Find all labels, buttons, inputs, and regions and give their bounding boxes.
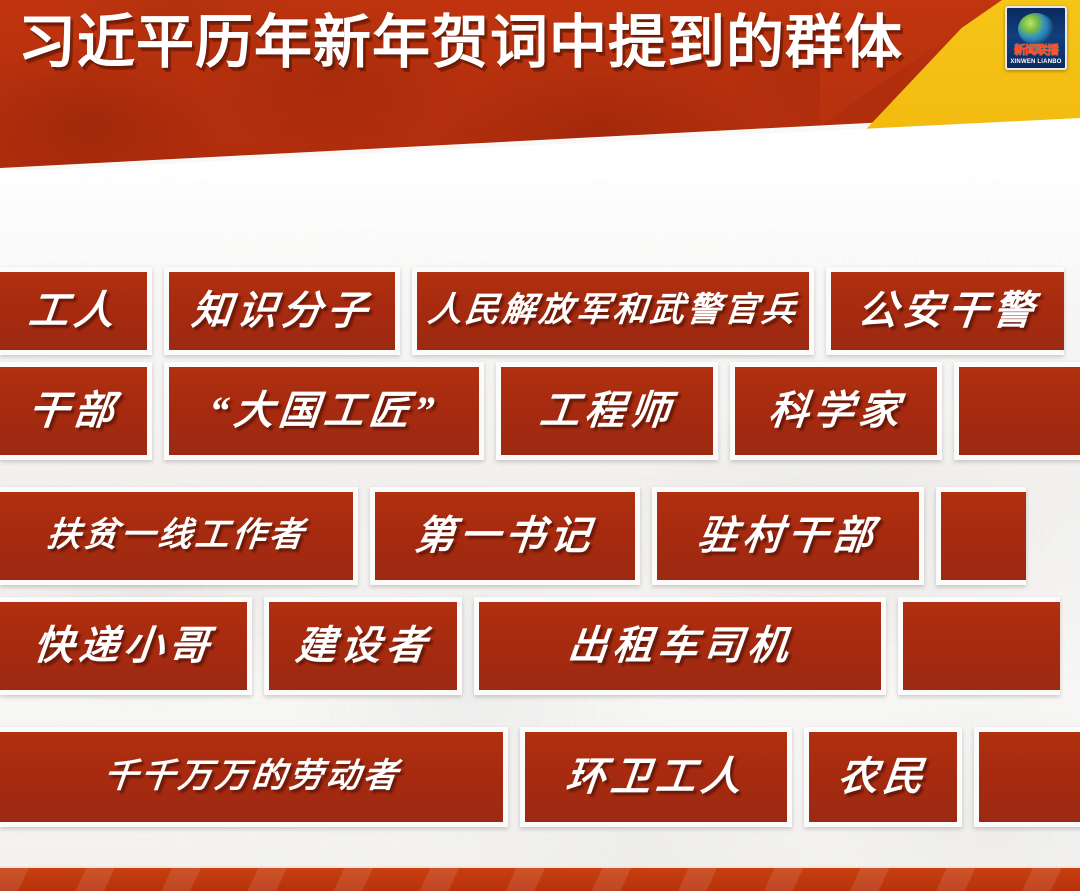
group-tag: 农民 bbox=[804, 727, 962, 827]
group-tag: 工程师 bbox=[496, 362, 718, 460]
group-tag-label: 建设者 bbox=[293, 626, 432, 666]
group-tag: 公安干警 bbox=[826, 267, 1064, 355]
group-tag: 第一书记 bbox=[370, 487, 640, 585]
group-row: 千千万万的劳动者环卫工人农民 bbox=[0, 727, 1080, 827]
globe-icon bbox=[1018, 13, 1054, 45]
logo-name-cn: 新闻联播 bbox=[1007, 44, 1065, 56]
group-row: 扶贫一线工作者第一书记驻村干部 bbox=[0, 487, 1026, 585]
group-tag-label: 农民 bbox=[836, 757, 930, 797]
group-tag-grid: 工人知识分子人民解放军和武警官兵公安干警干部“大国工匠”工程师科学家扶贫一线工作… bbox=[0, 0, 1080, 891]
group-tag-label: 知识分子 bbox=[190, 291, 374, 331]
group-tag-empty bbox=[898, 597, 1060, 695]
group-tag-label: 工程师 bbox=[537, 391, 676, 431]
group-tag-label: 第一书记 bbox=[413, 516, 597, 556]
group-row: 快递小哥建设者出租车司机 bbox=[0, 597, 1060, 695]
group-tag-label: 快递小哥 bbox=[31, 626, 215, 666]
logo-name-en: XINWEN LIANBO bbox=[1007, 59, 1065, 65]
group-tag: 干部 bbox=[0, 362, 152, 460]
group-tag: 工人 bbox=[0, 267, 152, 355]
group-tag-empty bbox=[954, 362, 1080, 460]
group-tag-label: 干部 bbox=[26, 391, 120, 431]
group-tag-label: 驻村干部 bbox=[696, 516, 880, 556]
group-tag-label: 工人 bbox=[26, 291, 120, 331]
group-tag-label: “大国工匠” bbox=[207, 391, 441, 431]
group-tag-label: 科学家 bbox=[766, 391, 905, 431]
group-tag: “大国工匠” bbox=[164, 362, 484, 460]
group-row: 干部“大国工匠”工程师科学家 bbox=[0, 362, 1080, 460]
group-tag-label: 扶贫一线工作者 bbox=[45, 519, 308, 553]
group-tag-label: 出租车司机 bbox=[565, 626, 794, 666]
cctv-news-logo: 新闻联播 XINWEN LIANBO bbox=[1005, 6, 1067, 70]
group-tag: 建设者 bbox=[264, 597, 462, 695]
group-tag: 驻村干部 bbox=[652, 487, 924, 585]
group-tag: 千千万万的劳动者 bbox=[0, 727, 508, 827]
group-tag: 知识分子 bbox=[164, 267, 400, 355]
group-tag-label: 环卫工人 bbox=[564, 757, 748, 797]
group-tag-label: 千千万万的劳动者 bbox=[102, 760, 402, 794]
poster-root: 习近平历年新年贺词中提到的群体 新闻联播 XINWEN LIANBO 工人知识分… bbox=[0, 0, 1080, 891]
group-tag: 出租车司机 bbox=[474, 597, 886, 695]
group-tag: 科学家 bbox=[730, 362, 942, 460]
group-tag-label: 人民解放军和武警官兵 bbox=[426, 294, 800, 328]
bottom-red-strip bbox=[0, 866, 1080, 891]
group-tag-empty bbox=[974, 727, 1080, 827]
group-tag: 人民解放军和武警官兵 bbox=[412, 267, 814, 355]
group-tag: 快递小哥 bbox=[0, 597, 252, 695]
group-tag: 扶贫一线工作者 bbox=[0, 487, 358, 585]
group-tag: 环卫工人 bbox=[520, 727, 792, 827]
page-title: 习近平历年新年贺词中提到的群体 bbox=[18, 14, 903, 72]
group-row: 工人知识分子人民解放军和武警官兵公安干警 bbox=[0, 267, 1064, 355]
group-tag-label: 公安干警 bbox=[855, 291, 1039, 331]
group-tag-empty bbox=[936, 487, 1026, 585]
